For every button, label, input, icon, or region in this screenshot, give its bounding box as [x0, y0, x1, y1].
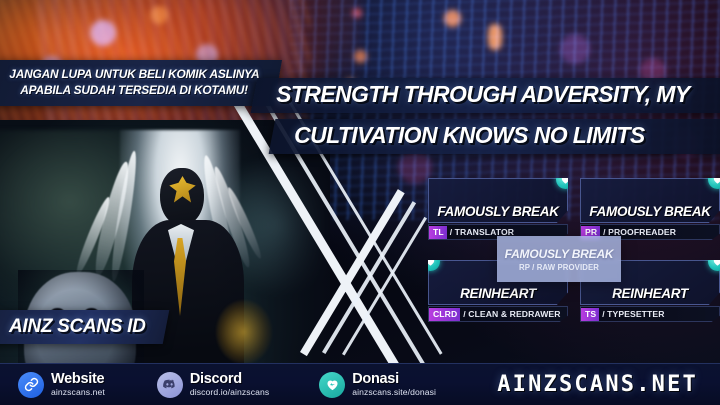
scanlation-credits-banner: th JANGAN LUPA UNTUK BELI KOMIK ASLINYA …: [0, 0, 720, 405]
role-tag: CLRD: [429, 308, 460, 321]
footer-link-sub: discord.io/ainzscans: [190, 388, 269, 397]
group-logo: AINZ SCANS ID: [0, 310, 169, 344]
role-description: / CLEAN & REDRAWER: [460, 309, 560, 319]
footer-link-donasi[interactable]: Donasi ainzscans.site/donasi: [319, 372, 436, 398]
footer-bar: Website ainzscans.net Discord discord.io…: [0, 363, 720, 405]
credit-role: TS / TYPESETTER: [580, 306, 720, 322]
footer-link-text: Discord discord.io/ainzscans: [190, 372, 269, 397]
footer-link-discord[interactable]: Discord discord.io/ainzscans: [157, 372, 269, 398]
bokeh-light: [354, 50, 367, 63]
footer-link-title: Website: [51, 372, 105, 387]
title-bar-1: STRENGTH THROUGH ADVERSITY, MY: [251, 78, 720, 113]
credit-card-proofreader[interactable]: FAMOUSLY BREAK PR / PROOFREADER: [580, 178, 720, 240]
tooltip-role: RP / RAW PROVIDER: [519, 263, 599, 272]
footer-link-title: Discord: [190, 372, 269, 387]
credit-name: REINHEART: [612, 286, 688, 301]
title-line-1: STRENGTH THROUGH ADVERSITY, MY: [276, 82, 714, 108]
credit-card-translator[interactable]: FAMOUSLY BREAK TL / TRANSLATOR: [428, 178, 568, 240]
footer-link-title: Donasi: [352, 372, 436, 387]
title-bar-2: CULTIVATION KNOWS NO LIMITS: [269, 119, 720, 154]
notice-line-1: JANGAN LUPA UNTUK BELI KOMIK ASLINYA: [9, 66, 259, 82]
bokeh-light: [352, 8, 362, 18]
footer-brand: AINZSCANS.NET: [497, 372, 698, 397]
credit-tooltip-raw-provider[interactable]: FAMOUSLY BREAK RP / RAW PROVIDER: [497, 236, 621, 282]
credit-card-body: FAMOUSLY BREAK: [580, 178, 720, 223]
footer-link-sub: ainzscans.site/donasi: [352, 388, 436, 397]
role-description: / TYPESETTER: [599, 309, 664, 319]
heart-icon: [556, 170, 575, 189]
donate-heart-icon: [319, 372, 345, 398]
heart-icon: [421, 252, 440, 271]
role-tag: TS: [581, 308, 599, 321]
bokeh-light: [444, 10, 461, 27]
bokeh-light: [150, 6, 168, 24]
footer-link-sub: ainzscans.net: [51, 388, 105, 397]
notice-line-2: APABILA SUDAH TERSEDIA DI KOTAMU!: [9, 82, 259, 98]
bokeh-light: [90, 20, 116, 46]
role-tag: TL: [429, 226, 447, 239]
heart-icon: [708, 170, 720, 189]
series-title: STRENGTH THROUGH ADVERSITY, MY CULTIVATI…: [254, 78, 720, 154]
bokeh-light: [488, 24, 502, 50]
group-logo-text: AINZ SCANS ID: [9, 316, 146, 338]
credit-name: FAMOUSLY BREAK: [437, 204, 558, 219]
credit-name: FAMOUSLY BREAK: [589, 204, 710, 219]
discord-icon: [157, 372, 183, 398]
buy-original-notice: JANGAN LUPA UNTUK BELI KOMIK ASLINYA APA…: [0, 60, 282, 106]
credit-card-body: FAMOUSLY BREAK: [428, 178, 568, 223]
link-icon: [18, 372, 44, 398]
character-face: [160, 168, 204, 226]
footer-link-text: Donasi ainzscans.site/donasi: [352, 372, 436, 397]
credit-role: CLRD / CLEAN & REDRAWER: [428, 306, 568, 322]
footer-link-website[interactable]: Website ainzscans.net: [18, 372, 105, 398]
tooltip-name: FAMOUSLY BREAK: [505, 247, 614, 261]
title-line-2: CULTIVATION KNOWS NO LIMITS: [294, 123, 714, 149]
credit-name: REINHEART: [460, 286, 536, 301]
footer-link-text: Website ainzscans.net: [51, 372, 105, 397]
heart-icon: [708, 252, 720, 271]
bokeh-light: [560, 34, 590, 64]
